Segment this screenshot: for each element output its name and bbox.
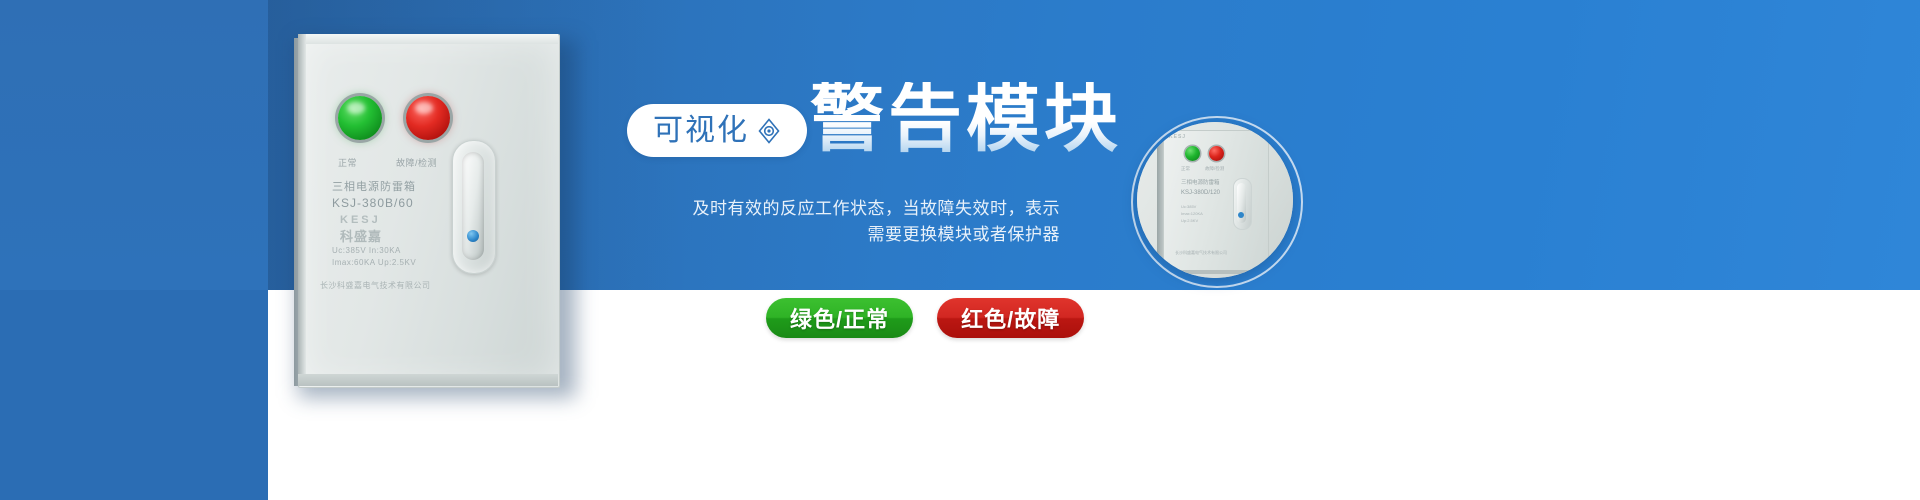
inset-green-led-indicator [1185, 146, 1200, 161]
cabinet-handle-slot [462, 152, 484, 260]
status-badge-normal: 绿色/正常 [766, 298, 913, 338]
cabinet-bottom-edge [298, 374, 558, 386]
inset-label-fault: 故障/检测 [1205, 166, 1224, 172]
cabinet-label-fault: 故障/检测 [396, 156, 437, 169]
banner-subtitle: 及时有效的反应工作状态，当故障失效时，表示 需要更换模块或者保护器 [640, 196, 1060, 248]
visualization-badge: 可视化 [627, 104, 807, 157]
cabinet-handle-lock-icon [467, 230, 479, 242]
banner-left-blue-column-lower [0, 290, 268, 500]
inset-label-normal: 正常 [1181, 166, 1190, 172]
status-badge-fault: 红色/故障 [937, 298, 1084, 338]
cabinet-company-name: 长沙科盛嘉电气技术有限公司 [320, 280, 431, 291]
status-tag-row: 绿色/正常 红色/故障 [766, 298, 1084, 338]
cabinet-product-name: 三相电源防雷箱 [332, 178, 416, 194]
inset-spec-line-3: Up:2.5KV [1181, 218, 1198, 223]
cabinet-front-panel [298, 34, 560, 388]
red-led-indicator [406, 96, 450, 140]
cabinet-brand-cn: 科盛嘉 [340, 226, 382, 245]
inset-brand-en: KESJ [1169, 134, 1186, 140]
inset-company-name: 长沙科盛嘉电气技术有限公司 [1175, 250, 1227, 256]
inset-red-led-indicator [1209, 146, 1224, 161]
promo-banner: 正常 故障/检测 三相电源防雷箱 KSJ-380B/60 KESJ 科盛嘉 Uc… [0, 0, 1920, 500]
visualization-badge-label: 可视化 [653, 116, 749, 146]
page-title: 警告模块 [810, 82, 1122, 156]
cabinet-brand-en: KESJ [340, 214, 381, 226]
inset-model: KSJ-380D/120 [1181, 190, 1220, 196]
product-photo-main: 正常 故障/检测 三相电源防雷箱 KSJ-380B/60 KESJ 科盛嘉 Uc… [268, 18, 598, 418]
cabinet-left-edge [298, 34, 306, 386]
green-led-indicator [338, 96, 382, 140]
inset-spec-line-2: Imax:120KA [1181, 211, 1203, 216]
banner-subtitle-line-1: 及时有效的反应工作状态，当故障失效时，表示 [640, 196, 1060, 222]
cabinet-spec-line-2: Imax:60KA Up:2.5KV [332, 258, 416, 267]
product-photo-inset: KESJ 正常 故障/检测 三相电源防雷箱 KSJ-380D/120 Uc:38… [1131, 116, 1303, 288]
inset-spec-line-1: Uc:385V [1181, 204, 1196, 209]
inset-product-name: 三相电源防雷箱 [1181, 178, 1220, 186]
cabinet-top-edge [298, 34, 558, 44]
cabinet-label-normal: 正常 [338, 156, 357, 169]
cabinet-spec-line-1: Uc:385V In:30KA [332, 246, 401, 255]
banner-subtitle-line-2: 需要更换模块或者保护器 [640, 222, 1060, 248]
inset-handle-lock-icon [1238, 212, 1244, 218]
cabinet-model: KSJ-380B/60 [332, 196, 414, 210]
inset-cabinet-feet [1177, 270, 1253, 274]
inset-photo-clip: KESJ 正常 故障/检测 三相电源防雷箱 KSJ-380D/120 Uc:38… [1137, 122, 1293, 278]
eye-diamond-icon [757, 118, 781, 144]
